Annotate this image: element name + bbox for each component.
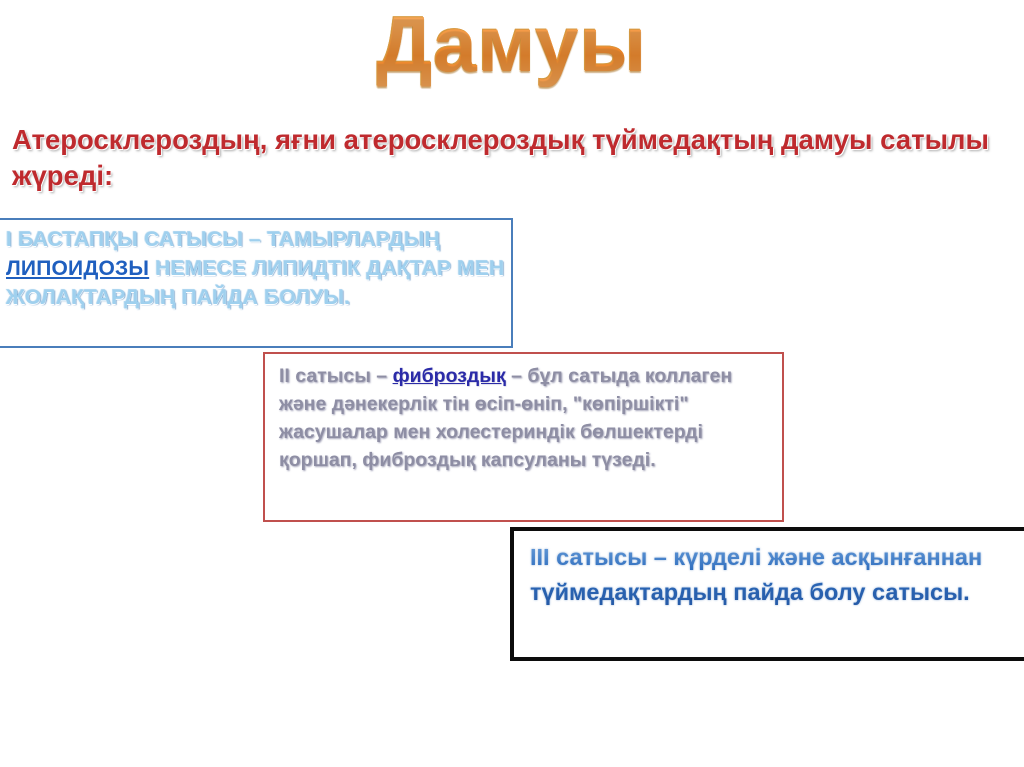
stage-1-text: І БАСТАПҚЫ САТЫСЫ – ТАМЫРЛАРДЫҢ ЛИПОИДОЗ… — [6, 225, 511, 312]
stage-1-box: І БАСТАПҚЫ САТЫСЫ – ТАМЫРЛАРДЫҢ ЛИПОИДОЗ… — [0, 218, 513, 348]
stage-1-text-before: І БАСТАПҚЫ САТЫСЫ – ТАМЫРЛАРДЫҢ — [6, 228, 440, 251]
stage-1-link-lipoidoz[interactable]: ЛИПОИДОЗЫ — [6, 257, 149, 280]
stage-3-text: ІІІ сатысы – күрделі және асқынғаннан тү… — [530, 540, 1024, 610]
stage-2-text: ІІ сатысы – фиброздық – бұл сатыда колла… — [279, 362, 779, 474]
stage-3-box: ІІІ сатысы – күрделі және асқынғаннан тү… — [510, 527, 1024, 661]
stage-2-link-fibrozdyq[interactable]: фиброздық — [393, 365, 506, 387]
stage-2-text-before: ІІ сатысы – — [279, 365, 393, 387]
stage-2-box: ІІ сатысы – фиброздық – бұл сатыда колла… — [263, 352, 784, 522]
slide-title: Дамуы — [0, 0, 1024, 92]
slide-subtitle: Атеросклероздың, яғни атеросклероздық тү… — [12, 122, 1012, 194]
